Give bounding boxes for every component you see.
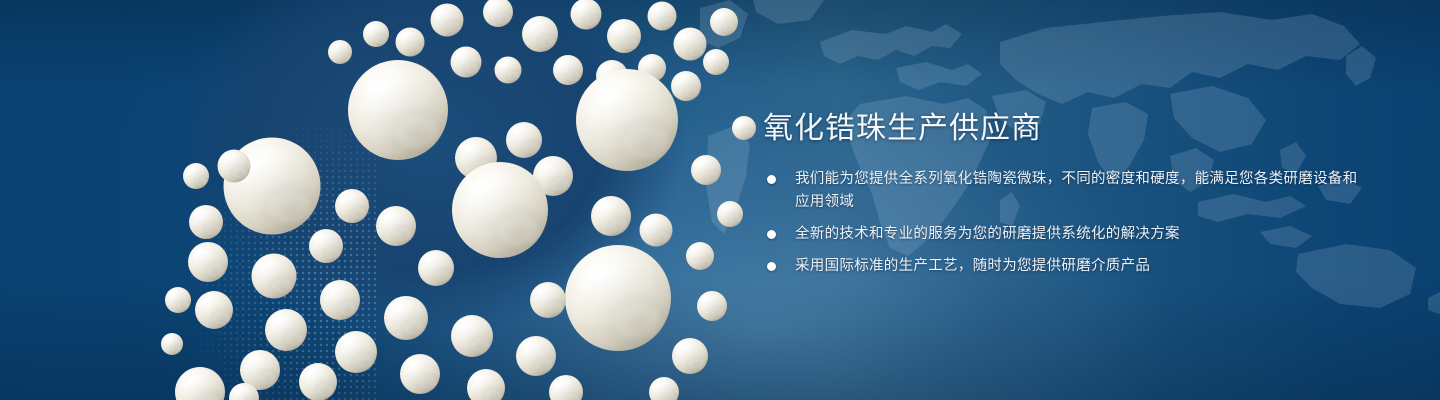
list-item: 采用国际标准的生产工艺，随时为您提供研磨介质产品 — [763, 255, 1363, 278]
list-item-label: 采用国际标准的生产工艺，随时为您提供研磨介质产品 — [795, 255, 1363, 278]
bullet-dot-icon — [767, 262, 776, 271]
list-item: 全新的技术和专业的服务为您的研磨提供系统化的解决方案 — [763, 223, 1363, 246]
list-item-label: 我们能为您提供全系列氧化锆陶瓷微珠，不同的密度和硬度，能满足您各类研磨设备和应用… — [795, 168, 1363, 214]
feature-list: 我们能为您提供全系列氧化锆陶瓷微珠，不同的密度和硬度，能满足您各类研磨设备和应用… — [763, 168, 1363, 287]
list-item: 我们能为您提供全系列氧化锆陶瓷微珠，不同的密度和硬度，能满足您各类研磨设备和应用… — [763, 168, 1363, 214]
banner-copy: 氧化锆珠生产供应商 我们能为您提供全系列氧化锆陶瓷微珠，不同的密度和硬度，能满足… — [763, 0, 1383, 400]
bullet-dot-icon — [767, 175, 776, 184]
bullet-dot-icon — [767, 230, 776, 239]
hero-banner: 氧化锆珠生产供应商 我们能为您提供全系列氧化锆陶瓷微珠，不同的密度和硬度，能满足… — [0, 0, 1440, 400]
list-item-label: 全新的技术和专业的服务为您的研磨提供系统化的解决方案 — [795, 223, 1363, 246]
page-title: 氧化锆珠生产供应商 — [763, 110, 1042, 148]
